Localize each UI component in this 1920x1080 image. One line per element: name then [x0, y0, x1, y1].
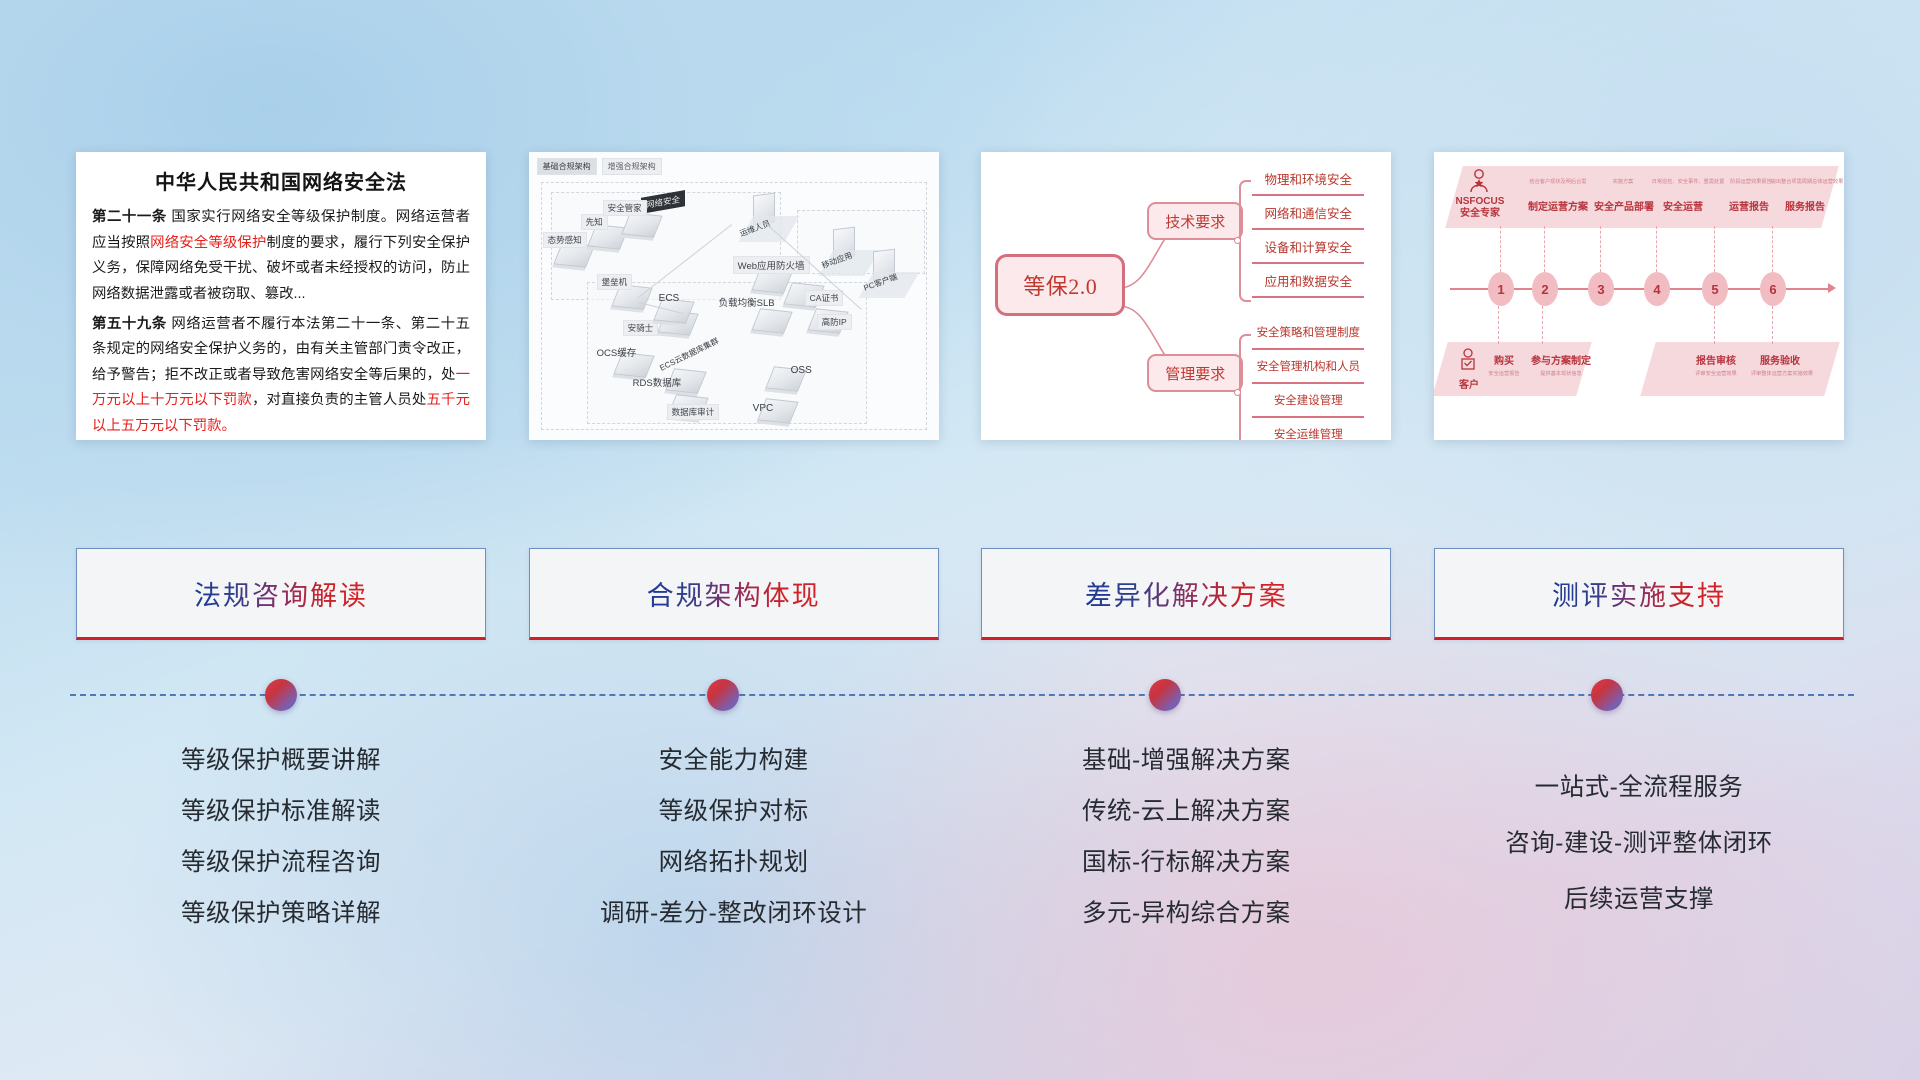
mindmap-leaf: 安全管理机构和人员	[1252, 350, 1364, 384]
title-box-differentiated-solution[interactable]: 差异化解决方案	[981, 548, 1391, 640]
mindmap-spine-technical	[1239, 180, 1251, 302]
bullet-item: 国标-行标解决方案	[1082, 838, 1291, 889]
mindmap-spine-management	[1239, 334, 1251, 440]
bullet-item: 等级保护流程咨询	[181, 838, 381, 889]
bullet-item: 等级保护对标	[659, 787, 809, 838]
title-box-compliance-architecture[interactable]: 合规架构体现	[529, 548, 939, 640]
nsfocus-step-node[interactable]: 5	[1702, 272, 1728, 306]
nsfocus-timeline-arrow-icon	[1828, 283, 1836, 293]
nsfocus-step-node[interactable]: 6	[1760, 272, 1786, 306]
architecture-label-ca: CA证书	[805, 290, 844, 306]
law-article-21-highlight: 网络安全等级保护	[150, 235, 266, 251]
bullet-item: 调研-差分-整改闭环设计	[600, 889, 867, 940]
mindmap-leaf: 安全策略和管理制度	[1252, 316, 1364, 350]
architecture-node-security-butler	[625, 214, 659, 236]
architecture-label-db-audit: 数据库审计	[667, 404, 720, 420]
nsfocus-tick	[1656, 226, 1657, 272]
title-text: 测评实施支持	[1552, 574, 1726, 613]
architecture-label-vpc: VPC	[749, 402, 778, 415]
customer-person-icon	[1456, 346, 1480, 374]
architecture-label-ecs: ECS	[655, 292, 684, 305]
dashed-timeline-axis	[70, 694, 1854, 696]
nsfocus-customer-step-main: 报告审核	[1688, 352, 1744, 367]
architecture-tab-bar[interactable]: 基础合规架构 增强合规架构	[537, 158, 662, 175]
nsfocus-step-main: 安全运营	[1652, 198, 1714, 213]
architecture-label-anti-ddos: 高防IP	[817, 314, 852, 330]
nsfocus-tick	[1600, 226, 1601, 272]
law-article-21: 第二十一条 国家实行网络安全等级保护制度。网络运营者应当按照网络安全等级保护制度…	[92, 205, 470, 308]
nsfocus-canvas: NSFOCUS安全专家 结合客户现状及明后台需 制定运营方案 实施方案 安全产品…	[1440, 160, 1838, 432]
mindmap-leaf: 网络和通信安全	[1252, 196, 1364, 230]
law-article-59: 第五十九条 网络运营者不履行本法第二十一条、第二十五条规定的网络安全保护义务的，…	[92, 312, 470, 440]
nsfocus-customer-step-sub: 评审整体运营方案实施效果	[1740, 370, 1824, 377]
card-nsfocus-service-timeline[interactable]: NSFOCUS安全专家 结合客户现状及明后台需 制定运营方案 实施方案 安全产品…	[1434, 152, 1844, 440]
nsfocus-customer-step-main: 购买	[1484, 352, 1524, 367]
nsfocus-step-node[interactable]: 3	[1588, 272, 1614, 306]
title-text: 法规咨询解读	[194, 574, 368, 613]
architecture-label-security-butler: 安全管家	[603, 200, 647, 216]
bullet-item: 等级保护策略详解	[181, 889, 381, 940]
mindmap-leaf: 设备和计算安全	[1252, 230, 1364, 264]
bullet-item: 等级保护概要讲解	[181, 736, 381, 787]
title-box-regulation-consulting[interactable]: 法规咨询解读	[76, 548, 486, 640]
mindmap-leaves-technical: 物理和环境安全 网络和通信安全 设备和计算安全 应用和数据安全	[1252, 162, 1364, 298]
mindmap-leaf: 应用和数据安全	[1252, 264, 1364, 298]
nsfocus-tick	[1714, 306, 1715, 344]
mindmap-leaf: 安全运维管理	[1252, 418, 1364, 440]
architecture-canvas: 网络安全 态势感知 先知 安全管家 堡垒机 安骑士 ECS Web应用防火墙 负…	[529, 152, 939, 440]
card-dengbao-mindmap[interactable]: 等保2.0 技术要求 管理要求 物理和环境安全 网络和通信安全 设备和计算安全 …	[981, 152, 1391, 440]
bullet-item: 基础-增强解决方案	[1082, 736, 1291, 787]
nsfocus-customer-label: 客户	[1452, 376, 1486, 391]
nsfocus-customer-step-main: 服务验收	[1752, 352, 1808, 367]
nsfocus-tick	[1542, 306, 1543, 344]
nsfocus-tick	[1714, 226, 1715, 272]
bullet-column-assessment-support: 一站式-全流程服务 咨询-建设-测评整体闭环 后续运营支撑	[1434, 736, 1844, 956]
nsfocus-step-main: 服务报告	[1774, 198, 1836, 213]
architecture-label-rds: RDS数据库	[629, 374, 686, 390]
mindmap-leaf: 物理和环境安全	[1252, 162, 1364, 196]
bullet-column-regulation-consulting: 等级保护概要讲解 等级保护标准解读 等级保护流程咨询 等级保护策略详解	[76, 736, 486, 956]
architecture-node-slb	[755, 310, 789, 332]
nsfocus-tick	[1500, 226, 1501, 272]
nsfocus-step-main: 制定运营方案	[1518, 198, 1598, 213]
nsfocus-customer-step-main: 参与方案制定	[1526, 352, 1596, 367]
law-article-21-label: 第二十一条	[92, 209, 167, 225]
nsfocus-step-node[interactable]: 2	[1532, 272, 1558, 306]
expert-person-icon	[1466, 168, 1492, 194]
nsfocus-tick	[1498, 306, 1499, 344]
architecture-tab-enhanced[interactable]: 增强合规架构	[602, 158, 662, 175]
nsfocus-tick	[1772, 306, 1773, 344]
section-title-row: 法规咨询解读 合规架构体现 差异化解决方案 测评实施支持	[76, 548, 1844, 640]
bullet-item: 一站式-全流程服务	[1535, 760, 1744, 816]
nsfocus-tick	[1544, 226, 1545, 272]
card-cybersecurity-law[interactable]: 中华人民共和国网络安全法 第二十一条 国家实行网络安全等级保护制度。网络运营者应…	[76, 152, 486, 440]
timeline-dot-4[interactable]	[1591, 679, 1623, 711]
law-article-59-label: 第五十九条	[92, 316, 167, 332]
timeline-dot-1[interactable]	[265, 679, 297, 711]
nsfocus-customer-step-sub: 安全运营报告	[1480, 370, 1528, 377]
nsfocus-expert-label: NSFOCUS安全专家	[1452, 196, 1508, 219]
nsfocus-step-main: 安全产品部署	[1588, 198, 1660, 213]
nsfocus-step-node[interactable]: 4	[1644, 272, 1670, 306]
bullet-item: 多元-异构综合方案	[1082, 889, 1291, 940]
nsfocus-customer-band-right	[1640, 342, 1839, 396]
architecture-label-bastion: 堡垒机	[597, 274, 633, 290]
law-article-59-text-2: ，对直接负责的主管人员处	[252, 392, 427, 408]
architecture-label-oss: OSS	[787, 364, 816, 377]
mindmap-branch-technical: 技术要求	[1147, 202, 1243, 240]
architecture-label-situational-awareness: 态势感知	[543, 232, 587, 248]
architecture-label-aegis: 安骑士	[623, 320, 659, 336]
title-box-assessment-support[interactable]: 测评实施支持	[1434, 548, 1844, 640]
bullet-item: 后续运营支撑	[1564, 872, 1714, 928]
timeline-dot-2[interactable]	[707, 679, 739, 711]
mindmap-leaves-management: 安全策略和管理制度 安全管理机构和人员 安全建设管理 安全运维管理	[1252, 316, 1364, 440]
architecture-label-slb: 负载均衡SLB	[715, 294, 779, 310]
bullet-item: 传统-云上解决方案	[1082, 787, 1291, 838]
mindmap-branch-management: 管理要求	[1147, 354, 1243, 392]
bullet-item: 等级保护标准解读	[181, 787, 381, 838]
bullet-item: 网络拓扑规划	[659, 838, 809, 889]
nsfocus-step-sub: 结合客户现状及明后台需	[1518, 178, 1598, 185]
bullet-item: 安全能力构建	[659, 736, 809, 787]
nsfocus-step-sub: 输出整合项需周期总体运营效果	[1766, 178, 1844, 185]
title-text: 合规架构体现	[647, 574, 821, 613]
timeline-dot-3[interactable]	[1149, 679, 1181, 711]
nsfocus-tick	[1772, 226, 1773, 272]
title-text: 差异化解决方案	[1085, 574, 1288, 613]
architecture-tab-basic[interactable]: 基础合规架构	[537, 158, 597, 175]
architecture-label-ocs: OCS缓存	[593, 344, 641, 360]
mindmap-root-node: 等保2.0	[995, 254, 1125, 316]
nsfocus-step-main: 运营报告	[1718, 198, 1780, 213]
bullet-columns-row: 等级保护概要讲解 等级保护标准解读 等级保护流程咨询 等级保护策略详解 安全能力…	[76, 736, 1844, 956]
bullet-item: 咨询-建设-测评整体闭环	[1505, 816, 1772, 872]
mindmap-canvas: 等保2.0 技术要求 管理要求 物理和环境安全 网络和通信安全 设备和计算安全 …	[987, 158, 1385, 434]
architecture-label-xianzhi: 先知	[581, 214, 608, 230]
screenshot-cards-row: 中华人民共和国网络安全法 第二十一条 国家实行网络安全等级保护制度。网络运营者应…	[76, 152, 1844, 440]
nsfocus-step-node[interactable]: 1	[1488, 272, 1514, 306]
architecture-label-waf: Web应用防火墙	[733, 256, 810, 274]
law-title: 中华人民共和国网络安全法	[92, 166, 470, 195]
bullet-column-compliance-architecture: 安全能力构建 等级保护对标 网络拓扑规划 调研-差分-整改闭环设计	[529, 736, 939, 956]
bullet-column-differentiated-solution: 基础-增强解决方案 传统-云上解决方案 国标-行标解决方案 多元-异构综合方案	[981, 736, 1391, 956]
card-compliance-architecture[interactable]: 基础合规架构 增强合规架构 网络安全 态势感知 先知 安全管家 堡垒机 安骑士 …	[529, 152, 939, 440]
mindmap-leaf: 安全建设管理	[1252, 384, 1364, 418]
nsfocus-customer-step-sub: 提供基本现状信息	[1528, 370, 1594, 377]
